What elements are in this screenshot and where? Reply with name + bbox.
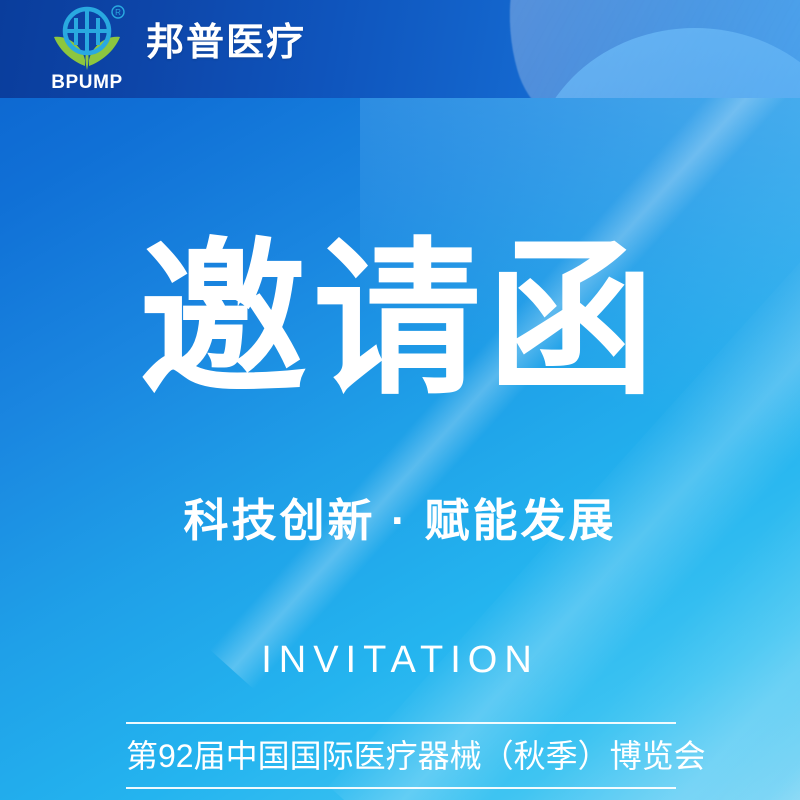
bpump-logo-icon: R BPUMP [44,4,130,92]
event-name: 第92届中国国际医疗器械（秋季）博览会 [126,724,676,787]
page-title: 邀请函 [0,236,800,404]
footer-rule-bottom [126,787,676,789]
invitation-poster: R BPUMP 邦普医疗 邀请函 科技创新 · 赋能发展 INVITATION … [0,0,800,800]
footer-block: 第92届中国国际医疗器械（秋季）博览会 [126,722,676,789]
company-name: 邦普医疗 [146,24,306,62]
svg-text:R: R [115,8,121,17]
poster-content: 邀请函 科技创新 · 赋能发展 INVITATION 第92届中国国际医疗器械（… [0,98,800,800]
english-title: INVITATION [0,641,800,679]
brand-lockup: R BPUMP 邦普医疗 [44,4,306,92]
subtitle: 科技创新 · 赋能发展 [0,498,800,543]
svg-text:BPUMP: BPUMP [51,72,123,92]
